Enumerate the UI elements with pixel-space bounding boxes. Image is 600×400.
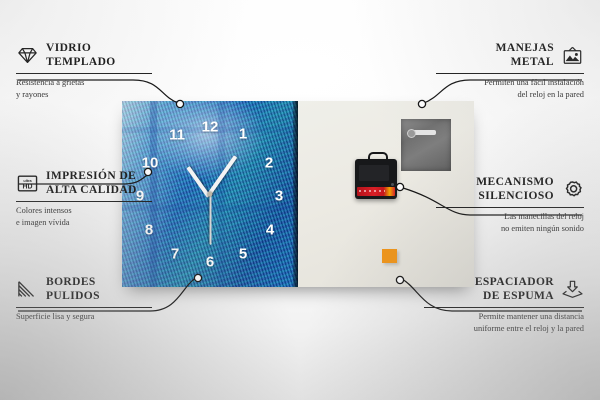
callout-header: ultra HD IMPRESIÓN DE ALTA CALIDAD bbox=[16, 170, 166, 197]
mechanism-body bbox=[359, 165, 389, 181]
clock-numeral: 10 bbox=[142, 156, 159, 171]
callout-vidrio-templado: VIDRIO TEMPLADO Resistencia a grietas y … bbox=[16, 42, 166, 100]
callout-rule bbox=[16, 201, 152, 202]
clock-numeral: 3 bbox=[275, 189, 283, 204]
callout-description: Permiten una fácil instalación del reloj… bbox=[428, 77, 584, 100]
callout-header: BORDES PULIDOS bbox=[16, 276, 166, 303]
clock-numeral: 6 bbox=[206, 255, 214, 270]
callout-impresion-alta-calidad: ultra HD IMPRESIÓN DE ALTA CALIDAD Color… bbox=[16, 170, 166, 228]
callout-title: ESPACIADOR DE ESPUMA bbox=[475, 276, 554, 303]
callout-mecanismo-silencioso: MECANISMO SILENCIOSO Las manecillas del … bbox=[428, 176, 584, 234]
callout-title: VIDRIO TEMPLADO bbox=[46, 42, 116, 69]
callout-description: Superficie lisa y segura bbox=[16, 311, 166, 322]
clock-hands-hub bbox=[208, 192, 213, 197]
clock-numeral: 5 bbox=[239, 247, 247, 262]
battery bbox=[357, 187, 395, 196]
polished-edge-icon bbox=[16, 280, 39, 299]
callout-title: MECANISMO SILENCIOSO bbox=[476, 176, 554, 203]
picture-hanger-icon bbox=[561, 46, 584, 65]
product-photo: 12 1 2 3 4 5 6 7 8 9 10 11 bbox=[122, 101, 474, 287]
clock-numeral: 12 bbox=[202, 120, 219, 135]
callout-description: Las manecillas del reloj no emiten ningú… bbox=[428, 211, 584, 234]
callout-rule bbox=[436, 73, 584, 74]
hanger-slot bbox=[412, 130, 436, 135]
gear-icon bbox=[561, 180, 584, 199]
callout-rule bbox=[16, 73, 152, 74]
press-down-pad-icon bbox=[561, 280, 584, 299]
foam-spacer bbox=[382, 249, 397, 263]
callout-title: BORDES PULIDOS bbox=[46, 276, 100, 303]
callout-description: Permite mantener una distancia uniforme … bbox=[416, 311, 584, 334]
clock-numeral: 2 bbox=[265, 156, 273, 171]
diamond-icon bbox=[16, 46, 39, 65]
clock-numeral: 1 bbox=[239, 127, 247, 142]
infographic-canvas: 12 1 2 3 4 5 6 7 8 9 10 11 bbox=[0, 0, 600, 400]
callout-description: Resistencia a grietas y rayones bbox=[16, 77, 166, 100]
svg-text:ultra: ultra bbox=[23, 179, 32, 183]
callout-header: ESPACIADOR DE ESPUMA bbox=[416, 276, 584, 303]
callout-rule bbox=[16, 307, 152, 308]
ultra-hd-icon: ultra HD bbox=[16, 174, 39, 193]
svg-text:HD: HD bbox=[23, 184, 33, 191]
callout-manejas-metal: MANEJAS METAL Permiten una fácil instala… bbox=[428, 42, 584, 100]
callout-bordes-pulidos: BORDES PULIDOS Superficie lisa y segura bbox=[16, 276, 166, 323]
callout-espaciador-de-espuma: ESPACIADOR DE ESPUMA Permite mantener un… bbox=[416, 276, 584, 334]
clock-numeral: 4 bbox=[266, 223, 274, 238]
second-hand bbox=[210, 195, 212, 245]
callout-header: MECANISMO SILENCIOSO bbox=[428, 176, 584, 203]
clock-numeral: 11 bbox=[169, 128, 185, 143]
callout-title: IMPRESIÓN DE ALTA CALIDAD bbox=[46, 170, 137, 197]
callout-rule bbox=[424, 307, 584, 308]
metal-hanger-plate bbox=[401, 119, 451, 171]
clock-numeral: 7 bbox=[171, 247, 179, 262]
callout-title: MANEJAS METAL bbox=[496, 42, 554, 69]
callout-header: MANEJAS METAL bbox=[428, 42, 584, 69]
callout-description: Colores intensos e imagen vívida bbox=[16, 205, 166, 228]
callout-rule bbox=[436, 207, 584, 208]
clock-mechanism bbox=[355, 159, 397, 199]
callout-header: VIDRIO TEMPLADO bbox=[16, 42, 166, 69]
mechanism-screw bbox=[391, 183, 394, 186]
hanger-loop bbox=[368, 152, 388, 163]
